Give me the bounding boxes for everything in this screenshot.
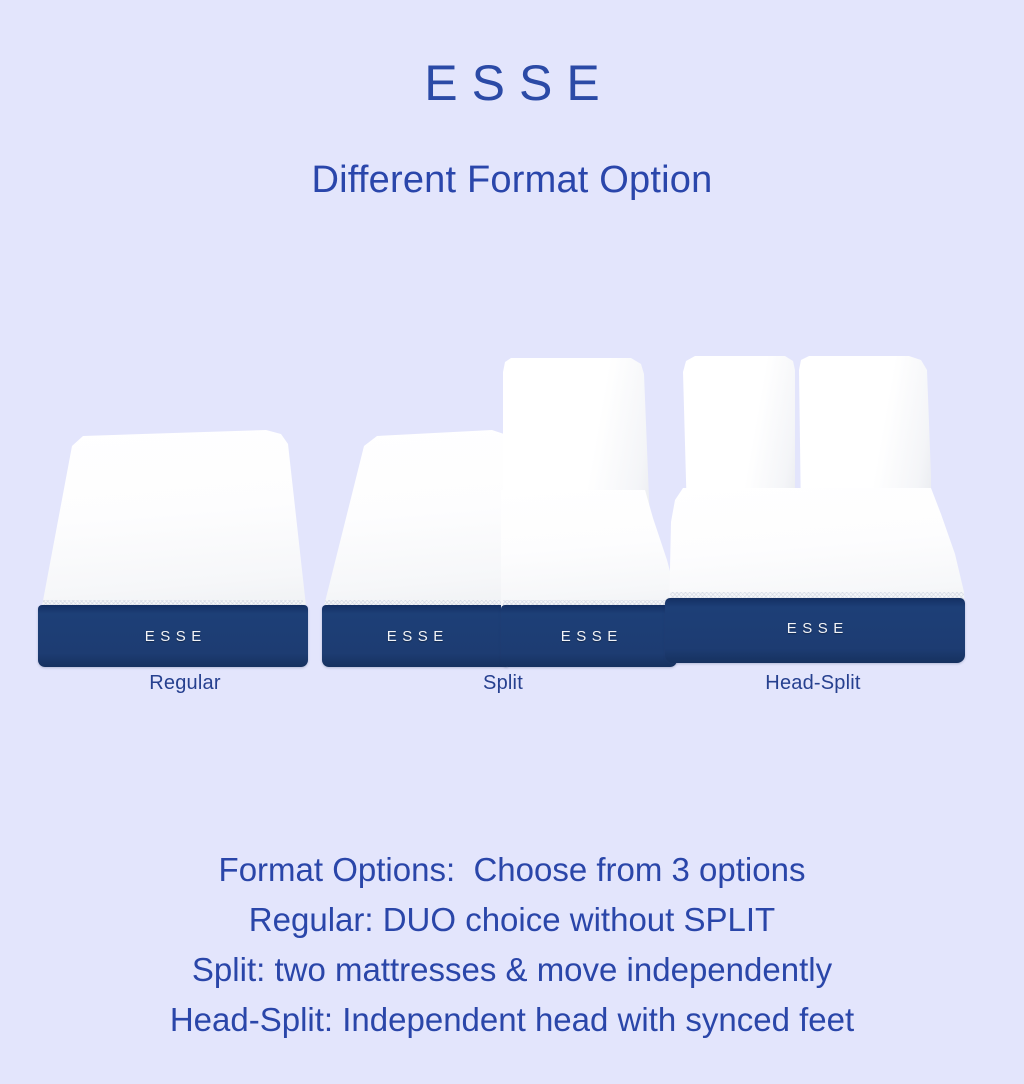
mattress-head-split[interactable]: ESSE [655,340,965,670]
caption-split: Split [378,672,628,695]
mattress-regular-base-label: ESSE [38,628,308,645]
product-illustration-stage: ESSE ESSE ESSE ESSE [0,340,1024,680]
mattress-split-right-base: ESSE [501,605,677,667]
mattress-split-left-base: ESSE [322,605,508,667]
mattress-head-split-base: ESSE [665,598,965,663]
mattress-split-right[interactable]: ESSE [495,340,680,670]
mattress-split-left-base-label: ESSE [322,628,508,645]
footer-line-4: Head-Split: Independent head with synced… [0,995,1024,1045]
page-title-brand: ESSE [0,58,1024,108]
mattress-regular[interactable]: ESSE [0,340,330,670]
mattress-split-left-top-surface [322,430,510,615]
mattress-regular-base: ESSE [38,605,308,667]
footer-line-2: Regular: DUO choice without SPLIT [0,895,1024,945]
footer-line-1: Format Options: Choose from 3 options [0,845,1024,895]
mattress-head-split-base-label: ESSE [665,620,965,637]
mattress-split-left[interactable]: ESSE [310,340,510,670]
footer-line-3: Split: two mattresses & move independent… [0,945,1024,995]
mattress-split-right-body [501,490,679,615]
caption-head-split: Head-Split [688,672,938,695]
mattress-split-right-base-label: ESSE [501,628,677,645]
footer-description: Format Options: Choose from 3 options Re… [0,845,1024,1045]
page-subtitle: Different Format Option [0,158,1024,204]
caption-regular: Regular [60,672,310,695]
mattress-regular-top-surface [38,430,308,615]
